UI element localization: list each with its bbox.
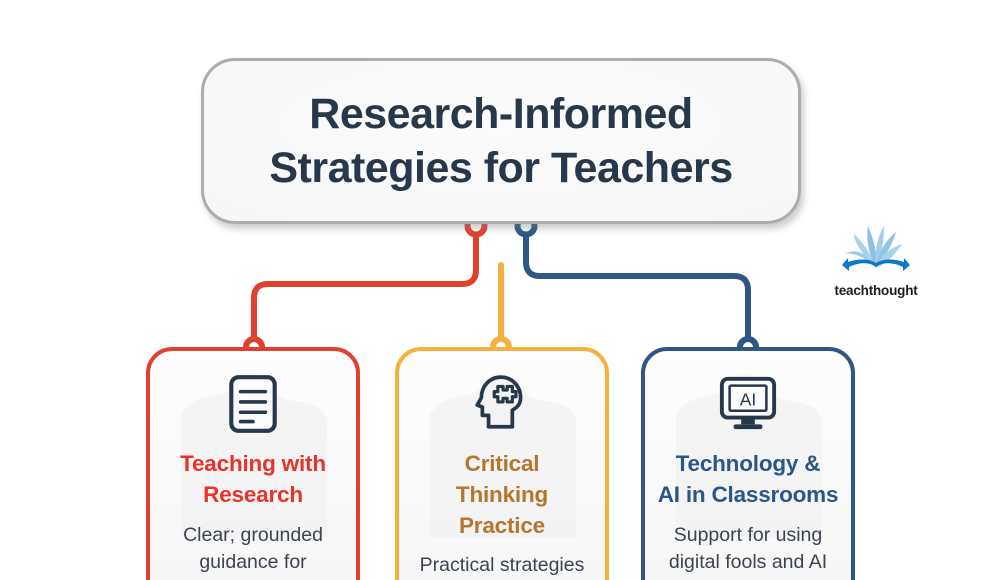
card-body-line-1: Support for using	[669, 522, 827, 549]
card-content: AI Technology & AI in Classrooms Support…	[645, 351, 851, 580]
card-body-line-1: Practical strategies	[420, 552, 585, 579]
logo-wordmark: teachthought	[818, 283, 934, 298]
card-title-line-2: AI in Classrooms	[658, 480, 839, 511]
card-title-line-1: Teaching with	[180, 449, 326, 480]
page-title-line-2: Strategies for Teachers	[269, 141, 732, 195]
card-title-line-1: Technology &	[658, 449, 839, 480]
card-title: Technology & AI in Classrooms	[658, 449, 839, 511]
teachthought-logo-icon	[830, 218, 922, 284]
card-title-line-3: Practice	[456, 511, 548, 542]
card-body-line-2: guidance for	[183, 549, 323, 576]
card-title: Teaching with Research	[180, 449, 326, 511]
card-body-line-2: digital fools and AI	[669, 549, 827, 576]
card-technology-ai-in-classrooms[interactable]: AI Technology & AI in Classrooms Support…	[641, 347, 855, 580]
card-content: Teaching with Research Clear; grounded g…	[150, 351, 356, 580]
card-teaching-with-research[interactable]: Teaching with Research Clear; grounded g…	[146, 347, 360, 580]
card-content: Critical Thinking Practice Practical str…	[399, 351, 605, 580]
svg-text:AI: AI	[740, 389, 756, 409]
page-title-line-1: Research-Informed	[309, 87, 692, 141]
connector-path-red	[254, 228, 476, 347]
page-title: Research-Informed Strategies for Teacher…	[201, 58, 801, 224]
card-title: Critical Thinking Practice	[456, 449, 548, 541]
monitor-ai-icon: AI	[718, 373, 778, 435]
card-body: Practical strategies	[420, 552, 585, 579]
head-puzzle-brain-icon	[472, 373, 532, 435]
infographic-canvas: Research-Informed Strategies for Teacher…	[0, 0, 1000, 580]
card-body-line-1: Clear; grounded	[183, 522, 323, 549]
card-body: Support for using digital fools and AI	[669, 522, 827, 577]
card-body: Clear; grounded guidance for	[183, 522, 323, 577]
brand-logo[interactable]: teachthought	[818, 218, 934, 310]
card-title-line-1: Critical	[456, 449, 548, 480]
card-title-line-2: Thinking	[456, 480, 548, 511]
card-critical-thinking-practice[interactable]: Critical Thinking Practice Practical str…	[395, 347, 609, 580]
document-lines-icon	[223, 373, 283, 435]
card-title-line-2: Research	[180, 480, 326, 511]
connector-path-blue	[526, 228, 748, 347]
